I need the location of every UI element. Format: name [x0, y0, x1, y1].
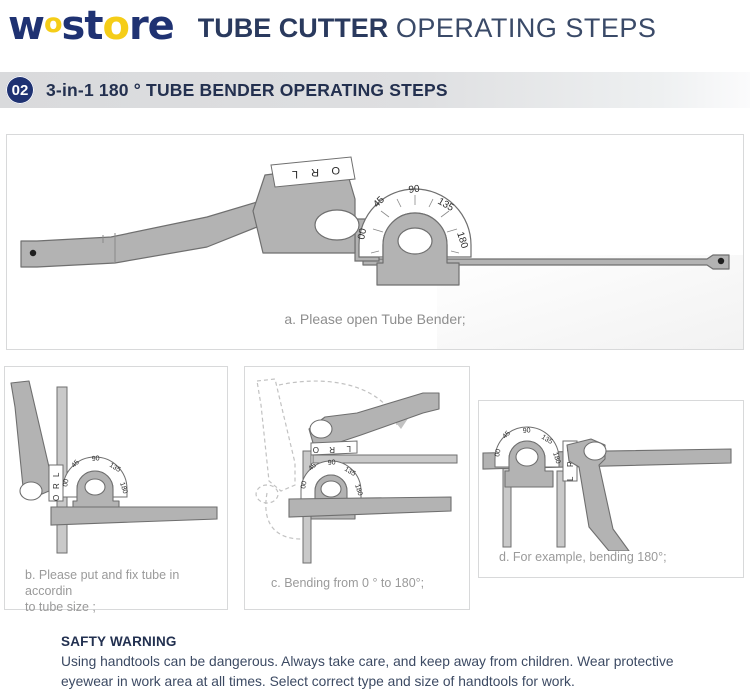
handle-pivot-hole: [20, 482, 42, 500]
logo-o-yellow-1: o: [44, 4, 62, 44]
page-title-light: OPERATING STEPS: [396, 13, 657, 43]
handle-pivot-hole: [584, 442, 606, 460]
scale-mark-90: 90: [327, 459, 336, 467]
body-mark-L: L: [346, 444, 351, 453]
protractor-wheel: 00 45 90 135 180: [356, 183, 471, 285]
handle-hole-right: [718, 258, 724, 264]
upper-handle: [309, 393, 439, 445]
section-title: 3-in-1 180 ° TUBE BENDER OPERATING STEPS: [46, 80, 448, 101]
bender-body: L R O: [253, 157, 359, 253]
lower-handle: [51, 507, 217, 525]
protractor-wheel: 00 45 90 135 180: [62, 455, 128, 515]
body-mark-R: R: [329, 445, 335, 454]
caption-step-c: c. Bending from 0 ° to 180°;: [271, 575, 471, 591]
workpiece-tube-leg-right: [557, 471, 565, 547]
brand-logo: wostore: [8, 6, 174, 51]
body-mark-O: O: [313, 445, 319, 454]
body-mark-R: R: [311, 166, 319, 178]
body-mark-L: L: [292, 168, 298, 180]
step-panel-d: 00 45 90 135 180 O R L d. For example, b…: [478, 400, 744, 578]
tube-fixing-illustration: L R O 00 45 90 135 180: [5, 367, 227, 563]
caption-step-a: a. Please open Tube Bender;: [7, 311, 743, 327]
scale-mark-90: 90: [408, 183, 421, 196]
bending-180-illustration: 00 45 90 135 180 O R L: [479, 401, 743, 551]
wheel-center-hole: [398, 228, 432, 254]
handle-pivot-hole: [310, 420, 332, 438]
logo-text-part1: w: [8, 6, 44, 46]
lower-handle: [289, 497, 451, 517]
section-number-badge: 02: [6, 76, 34, 104]
body-mark-O: O: [331, 164, 340, 176]
body-mark-L: L: [566, 476, 575, 481]
logo-text-part3: re: [129, 6, 174, 46]
step-panel-a: L R O 00 45 90 135 180 a. Please open Tu…: [6, 134, 744, 350]
safety-warning-block: SAFTY WARNING Using handtools can be dan…: [61, 634, 741, 691]
safety-warning-body: Using handtools can be dangerous. Always…: [61, 652, 741, 691]
body-mark-O: O: [52, 495, 61, 501]
upper-handle: [11, 381, 49, 497]
caption-step-b: b. Please put and fix tube in accordin t…: [25, 567, 221, 615]
logo-text-part2: st: [62, 6, 103, 46]
page-title: TUBE CUTTER OPERATING STEPS: [198, 13, 657, 43]
step-panel-b: L R O 00 45 90 135 180 b. Please put and…: [4, 366, 228, 610]
safety-warning-title: SAFTY WARNING: [61, 634, 741, 649]
caption-step-d: d. For example, bending 180°;: [499, 549, 729, 565]
step-panel-c: O R L 00 45 90 135 180 c. Bending from 0…: [244, 366, 470, 610]
logo-o-yellow-2: o: [102, 6, 128, 46]
scale-mark-90: 90: [522, 427, 531, 435]
body-mark-R: R: [52, 483, 61, 489]
section-header-bar: 02 3-in-1 180 ° TUBE BENDER OPERATING ST…: [0, 72, 750, 108]
body-mark-L: L: [52, 472, 61, 477]
page-header: wostore TUBE CUTTER OPERATING STEPS: [0, 0, 750, 56]
handle-hole-left: [30, 250, 36, 256]
scale-mark-90: 90: [91, 455, 100, 463]
body-pivot-hole: [315, 210, 359, 240]
page-title-bold: TUBE CUTTER: [198, 13, 389, 43]
bending-motion-illustration: O R L 00 45 90 135 180: [245, 367, 469, 567]
